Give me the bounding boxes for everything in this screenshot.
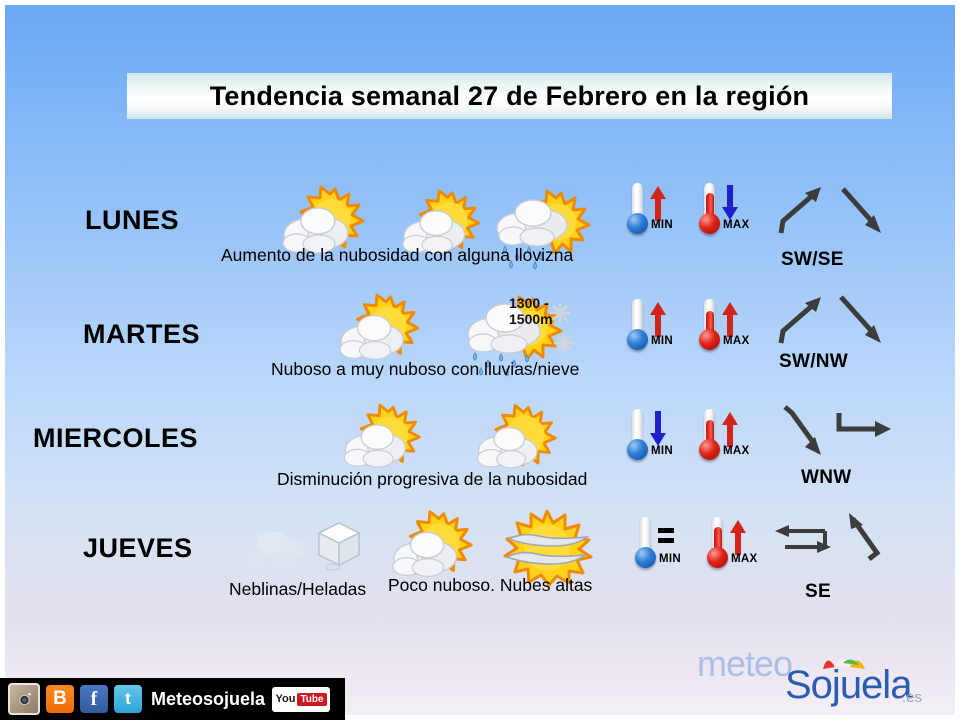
thermometer-bulb [627, 329, 648, 350]
arrow-down-right-icon [775, 399, 835, 466]
day-description-miercoles: Disminución progresiva de la nubosidad [277, 469, 587, 490]
day-description-jueves-left: Neblinas/Heladas [229, 579, 366, 600]
thermometer-max-miercoles: MAX [697, 409, 755, 465]
trend-up-icon [722, 301, 738, 337]
arrow-down-right-icon [829, 181, 889, 246]
thermometer-min-miercoles: MIN [625, 409, 683, 465]
youtube-icon[interactable]: You Tube [272, 687, 330, 712]
day-description-lunes: Aumento de la nubosidad con alguna llovi… [221, 245, 573, 266]
thermometer-label-min: MIN [651, 445, 673, 457]
thermometer-label-max: MAX [723, 219, 749, 231]
thermometer-label-max: MAX [731, 553, 757, 565]
meteosojuela-logo[interactable]: meteo Sojuela .es [697, 637, 937, 701]
thermometer-label-max: MAX [723, 335, 749, 347]
trend-down-icon [650, 411, 666, 447]
thermometer-bulb [707, 547, 728, 568]
arrow-up-right-icon [769, 181, 829, 246]
thermometer-bulb [699, 213, 720, 234]
wind-direction-miercoles: WNW [801, 467, 852, 489]
day-label-martes: MARTES [83, 319, 200, 350]
day-label-miercoles: MIERCOLES [33, 423, 198, 454]
fog-icon [237, 525, 313, 580]
day-label-jueves: JUEVES [83, 533, 193, 564]
thermometer-max-lunes: MAX [697, 183, 755, 239]
thermometer-bulb [627, 213, 648, 234]
youtube-tube-text: Tube [297, 693, 326, 706]
day-label-lunes: LUNES [85, 205, 179, 236]
page-title: Tendencia semanal 27 de Febrero en la re… [210, 81, 810, 112]
trend-up-icon [650, 185, 666, 221]
arrow-right-icon [833, 407, 895, 458]
thermometer-min-lunes: MIN [625, 183, 683, 239]
day-row-miercoles: MIERCOLES [5, 397, 955, 515]
title-banner: Tendencia semanal 27 de Febrero en la re… [127, 73, 892, 119]
day-row-jueves: JUEVES [5, 505, 955, 623]
day-description-jueves-right: Poco nuboso. Nubes altas [388, 575, 592, 596]
day-description-martes: Nuboso a muy nuboso con lluvias/nieve [271, 359, 579, 380]
arrow-down-right-icon [829, 291, 889, 356]
facebook-icon[interactable]: f [80, 685, 108, 713]
thermometer-min-martes: MIN [625, 299, 683, 355]
trend-equal-icon [658, 519, 674, 555]
thermometer-max-martes: MAX [697, 299, 755, 355]
snow-level-martes: 1300 - 1500m [509, 295, 553, 327]
thermometer-label-max: MAX [723, 445, 749, 457]
blogger-icon[interactable]: B [46, 685, 74, 713]
logo-meteo-text: meteo [697, 643, 792, 685]
day-row-martes: MARTES [5, 287, 955, 405]
instagram-icon[interactable] [8, 683, 40, 715]
trend-up-icon [722, 411, 738, 447]
weather-forecast-slide: Tendencia semanal 27 de Febrero en la re… [0, 0, 960, 720]
arrow-variable-icon [771, 521, 835, 566]
thermometer-bulb [627, 439, 648, 460]
thermometer-max-jueves: MAX [705, 517, 763, 573]
social-footer-bar: B f t Meteosojuela You Tube [0, 678, 345, 720]
thermometer-label-min: MIN [651, 335, 673, 347]
thermometer-bulb [635, 547, 656, 568]
twitter-icon[interactable]: t [114, 685, 142, 713]
wind-direction-jueves: SE [805, 581, 831, 603]
arrow-down-right-icon [839, 511, 895, 578]
youtube-you-text: You [275, 693, 295, 705]
thermometer-label-min: MIN [651, 219, 673, 231]
thermometer-bulb [699, 439, 720, 460]
brand-label: Meteosojuela [151, 689, 265, 710]
arrow-up-right-icon [769, 291, 829, 356]
wind-direction-lunes: SW/SE [781, 249, 844, 271]
wind-direction-martes: SW/NW [779, 351, 848, 373]
trend-down-icon [722, 185, 738, 221]
logo-sojuela-text: Sojuela [785, 663, 911, 708]
thermometer-min-jueves: MIN [633, 517, 691, 573]
logo-tld-text: .es [902, 689, 922, 706]
trend-up-icon [730, 519, 746, 555]
ice-cube-icon [309, 517, 367, 578]
day-row-lunes: LUNES [5, 173, 955, 291]
trend-up-icon [650, 301, 666, 337]
thermometer-bulb [699, 329, 720, 350]
thermometer-label-min: MIN [659, 553, 681, 565]
